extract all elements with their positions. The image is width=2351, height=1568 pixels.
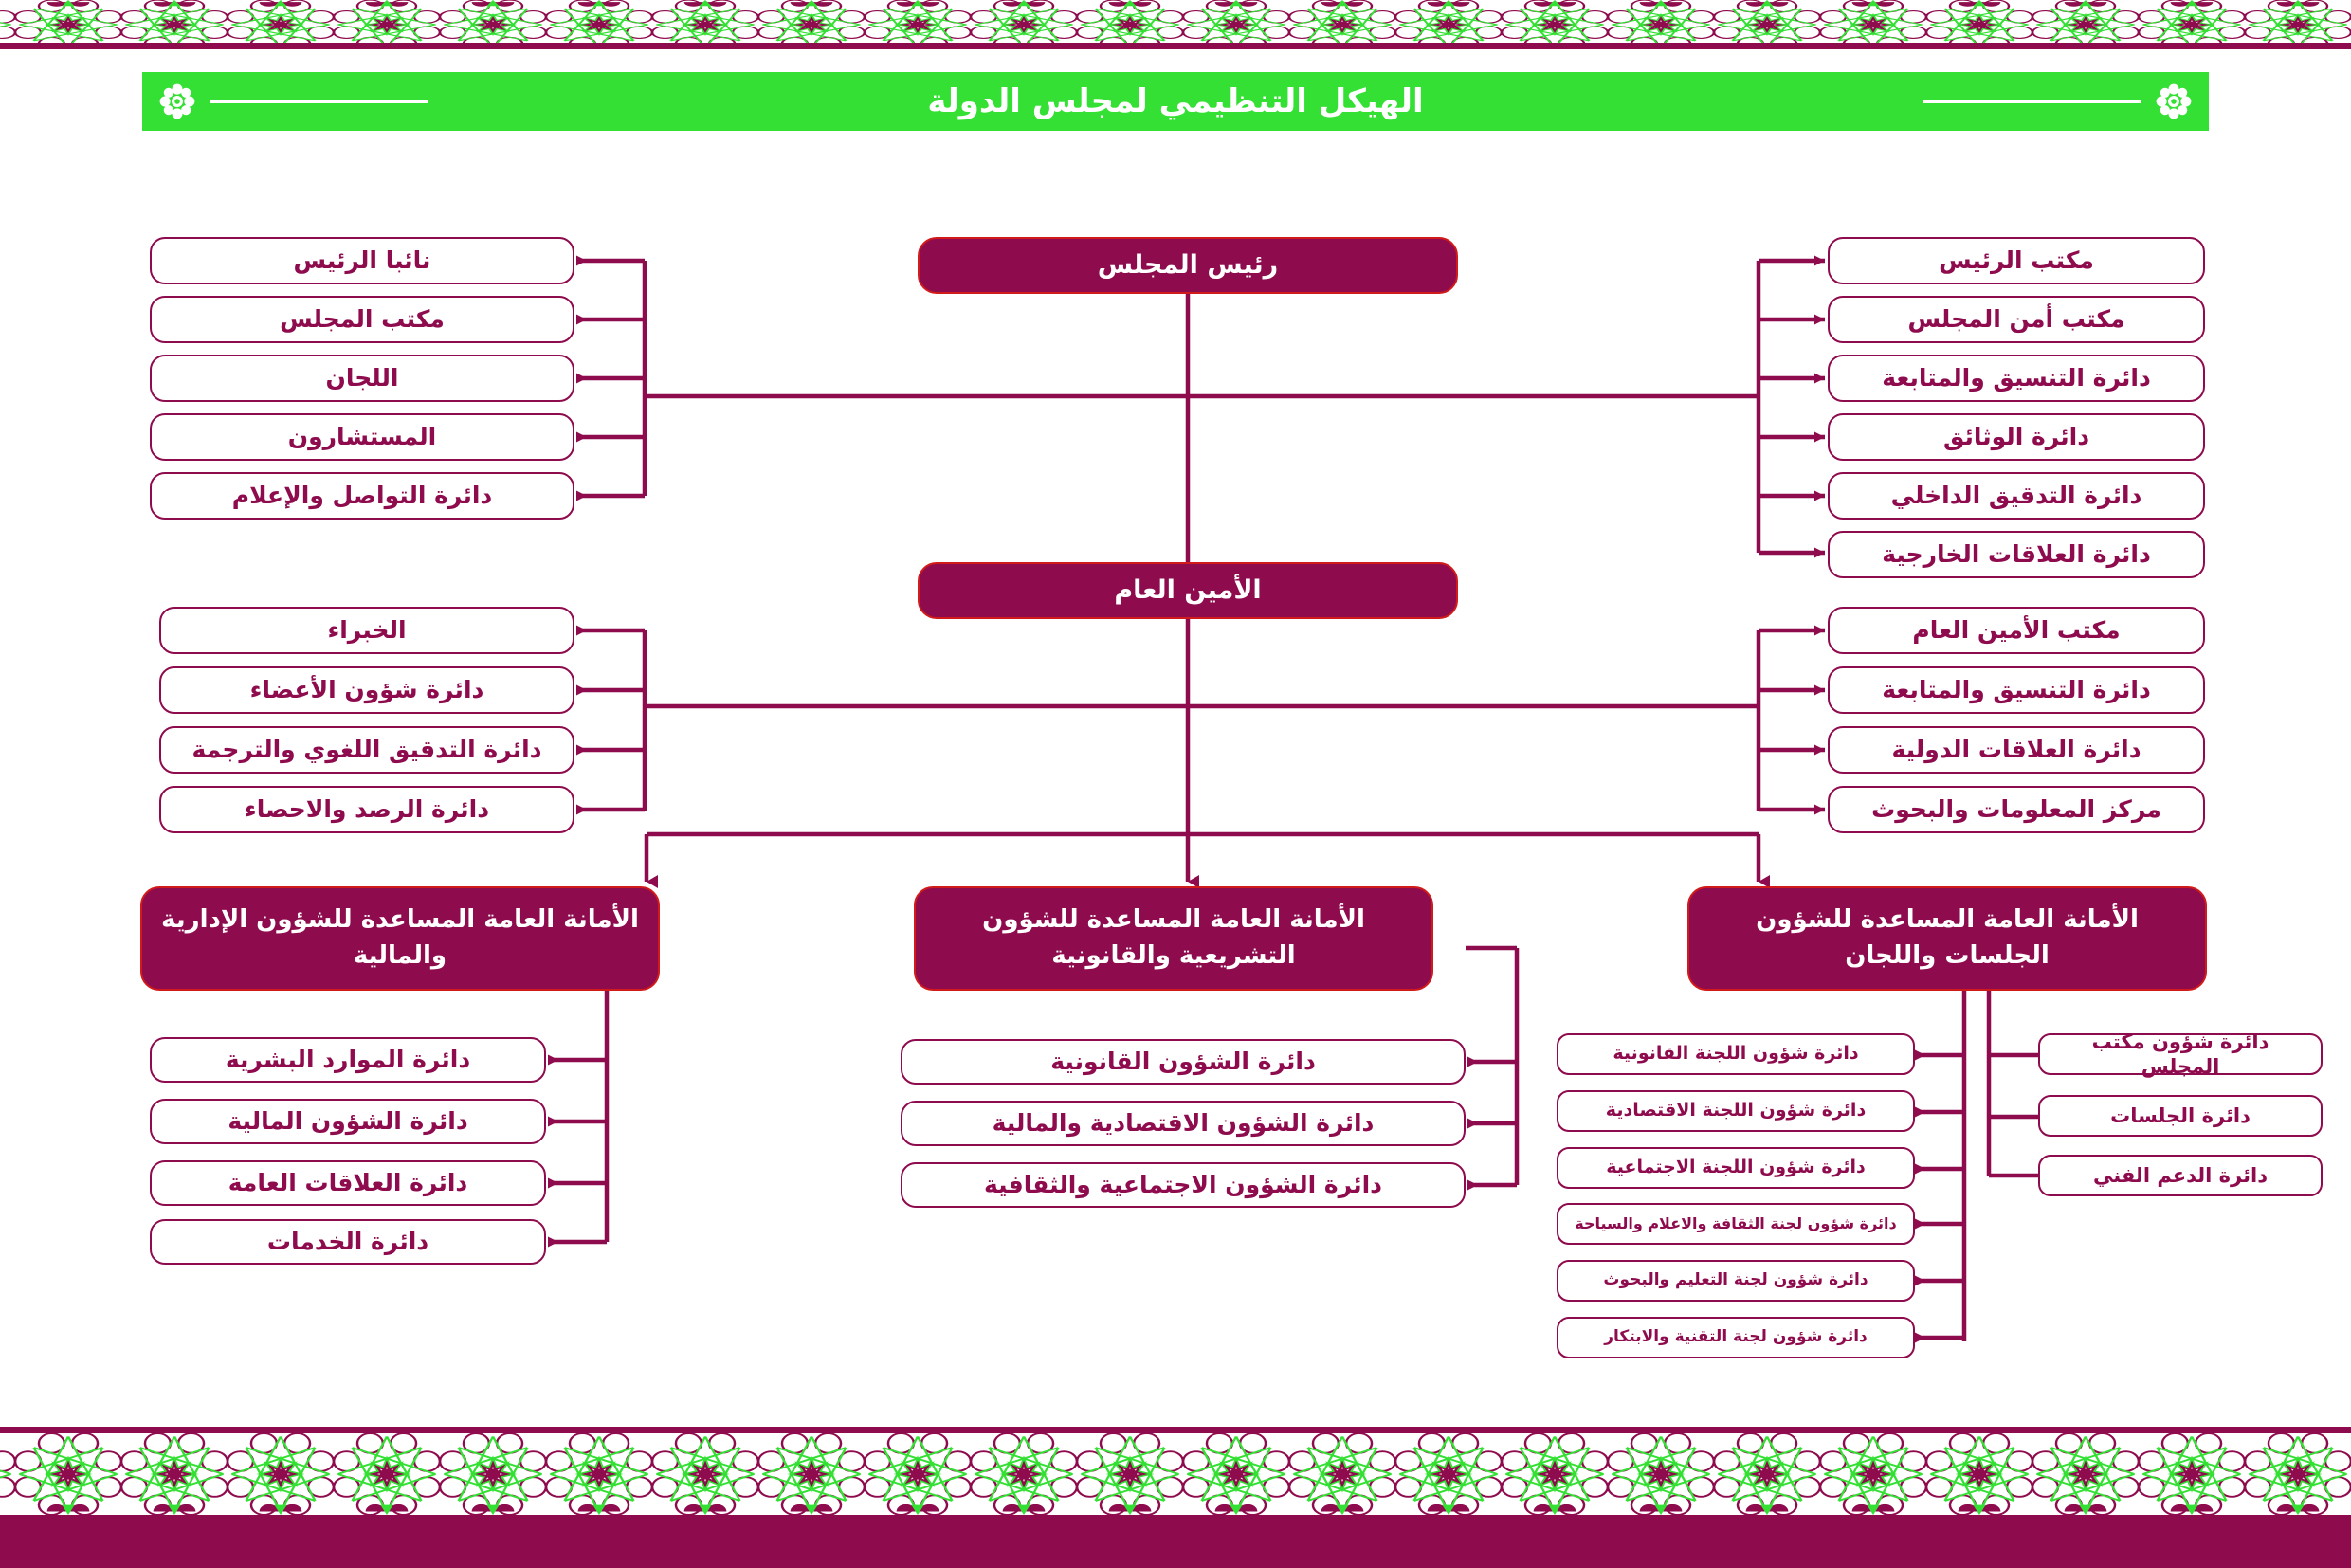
node-label: المستشارون — [288, 422, 436, 451]
node-label: دائرة الجلسات — [2110, 1103, 2251, 1128]
node-label: دائرة الوثائق — [1943, 422, 2089, 451]
org-chart-page: الهيكل التنظيمي لمجلس الدولة — [0, 0, 2351, 1568]
node-label: دائرة شؤون اللجنة القانونية — [1613, 1043, 1858, 1066]
node-label: دائرة العلاقات الخارجية — [1882, 539, 2151, 569]
list-item-committee-dept-3[interactable]: دائرة شؤون اللجنة الاجتماعية — [1557, 1147, 1915, 1189]
list-item-session-dept-3[interactable]: دائرة الدعم الفني — [2038, 1155, 2323, 1196]
list-item-president-right-3[interactable]: دائرة التنسيق والمتابعة — [1828, 355, 2205, 402]
list-item-legal-dept-3[interactable]: دائرة الشؤون الاجتماعية والثقافية — [901, 1162, 1466, 1208]
node-label: دائرة الرصد والاحصاء — [245, 794, 489, 824]
org-chart: رئيس المجلس الأمين العام نائبا الرئيس مك… — [0, 0, 2351, 1568]
node-label: دائرة العلاقات العامة — [228, 1168, 468, 1197]
list-item-president-right-6[interactable]: دائرة العلاقات الخارجية — [1828, 531, 2205, 578]
list-item-president-right-1[interactable]: مكتب الرئيس — [1828, 237, 2205, 284]
list-item-admin-dept-3[interactable]: دائرة العلاقات العامة — [150, 1160, 546, 1206]
node-label: الأمانة العامة المساعدة للشؤون الإدارية … — [155, 903, 645, 974]
node-label: مكتب الرئيس — [1939, 246, 2094, 275]
node-label: دائرة شؤون لجنة التقنية والابتكار — [1604, 1327, 1868, 1347]
list-item-committee-dept-1[interactable]: دائرة شؤون اللجنة القانونية — [1557, 1033, 1915, 1075]
node-label: مركز المعلومات والبحوث — [1871, 794, 2161, 824]
node-label: دائرة التنسيق والمتابعة — [1882, 675, 2151, 704]
node-label: دائرة الموارد البشرية — [226, 1045, 470, 1074]
list-item-sg-right-1[interactable]: مكتب الأمين العام — [1828, 607, 2205, 654]
node-label: دائرة الشؤون الاجتماعية والثقافية — [984, 1170, 1382, 1199]
node-label: دائرة التدقيق اللغوي والترجمة — [192, 735, 542, 764]
node-label: دائرة التدقيق الداخلي — [1891, 481, 2142, 510]
list-item-sg-right-4[interactable]: مركز المعلومات والبحوث — [1828, 786, 2205, 833]
node-secretary-general[interactable]: الأمين العام — [918, 562, 1458, 619]
list-item-legal-dept-2[interactable]: دائرة الشؤون الاقتصادية والمالية — [901, 1101, 1466, 1146]
node-label: رئيس المجلس — [1098, 249, 1278, 282]
node-label: مكتب المجلس — [280, 304, 445, 334]
list-item-sg-left-3[interactable]: دائرة التدقيق اللغوي والترجمة — [159, 726, 574, 774]
node-label: دائرة شؤون لجنة التعليم والبحوث — [1603, 1270, 1868, 1290]
node-label: دائرة الشؤون القانونية — [1050, 1047, 1316, 1076]
node-label: الخبراء — [327, 615, 406, 645]
list-item-committee-dept-6[interactable]: دائرة شؤون لجنة التقنية والابتكار — [1557, 1317, 1915, 1358]
node-label: دائرة الخدمات — [267, 1227, 428, 1256]
list-item-president-left-2[interactable]: مكتب المجلس — [150, 296, 574, 343]
node-label: دائرة التواصل والإعلام — [232, 481, 493, 510]
node-label: نائبا الرئيس — [294, 246, 431, 275]
list-item-admin-dept-4[interactable]: دائرة الخدمات — [150, 1219, 546, 1265]
node-label: دائرة شؤون اللجنة الاقتصادية — [1606, 1100, 1866, 1122]
list-item-admin-dept-1[interactable]: دائرة الموارد البشرية — [150, 1037, 546, 1083]
list-item-president-left-3[interactable]: اللجان — [150, 355, 574, 402]
node-label: دائرة العلاقات الدولية — [1891, 735, 2141, 764]
list-item-sg-left-4[interactable]: دائرة الرصد والاحصاء — [159, 786, 574, 833]
node-label: دائرة شؤون الأعضاء — [250, 675, 484, 704]
node-secretariat-admin-finance[interactable]: الأمانة العامة المساعدة للشؤون الإدارية … — [140, 886, 660, 991]
node-label: الأمانة العامة المساعدة للشؤون التشريعية… — [929, 903, 1418, 974]
list-item-sg-right-2[interactable]: دائرة التنسيق والمتابعة — [1828, 666, 2205, 714]
list-item-president-right-5[interactable]: دائرة التدقيق الداخلي — [1828, 472, 2205, 520]
list-item-committee-dept-4[interactable]: دائرة شؤون لجنة الثقافة والاعلام والسياح… — [1557, 1203, 1915, 1245]
list-item-legal-dept-1[interactable]: دائرة الشؤون القانونية — [901, 1039, 1466, 1085]
list-item-session-dept-2[interactable]: دائرة الجلسات — [2038, 1095, 2323, 1137]
node-label: دائرة شؤون مكتب المجلس — [2050, 1030, 2311, 1080]
node-secretariat-legislative-legal[interactable]: الأمانة العامة المساعدة للشؤون التشريعية… — [914, 886, 1433, 991]
list-item-president-left-4[interactable]: المستشارون — [150, 413, 574, 461]
list-item-sg-left-1[interactable]: الخبراء — [159, 607, 574, 654]
list-item-admin-dept-2[interactable]: دائرة الشؤون المالية — [150, 1099, 546, 1144]
list-item-president-left-1[interactable]: نائبا الرئيس — [150, 237, 574, 284]
list-item-committee-dept-2[interactable]: دائرة شؤون اللجنة الاقتصادية — [1557, 1090, 1915, 1132]
node-label: اللجان — [326, 363, 399, 392]
node-label: مكتب أمن المجلس — [1908, 304, 2125, 334]
connector-lines — [0, 0, 2351, 1568]
node-label: دائرة شؤون اللجنة الاجتماعية — [1606, 1157, 1866, 1179]
node-secretariat-sessions-committees[interactable]: الأمانة العامة المساعدة للشؤون الجلسات و… — [1687, 886, 2207, 991]
node-label: الأمين العام — [1114, 574, 1261, 607]
node-label: دائرة الشؤون الاقتصادية والمالية — [993, 1108, 1375, 1138]
list-item-session-dept-1[interactable]: دائرة شؤون مكتب المجلس — [2038, 1033, 2323, 1075]
node-label: مكتب الأمين العام — [1912, 615, 2120, 645]
list-item-president-left-5[interactable]: دائرة التواصل والإعلام — [150, 472, 574, 520]
node-label: دائرة شؤون لجنة الثقافة والاعلام والسياح… — [1575, 1214, 1896, 1233]
list-item-president-right-2[interactable]: مكتب أمن المجلس — [1828, 296, 2205, 343]
list-item-committee-dept-5[interactable]: دائرة شؤون لجنة التعليم والبحوث — [1557, 1260, 1915, 1302]
list-item-sg-right-3[interactable]: دائرة العلاقات الدولية — [1828, 726, 2205, 774]
list-item-president-right-4[interactable]: دائرة الوثائق — [1828, 413, 2205, 461]
node-label: دائرة الشؤون المالية — [228, 1106, 467, 1136]
node-label: الأمانة العامة المساعدة للشؤون الجلسات و… — [1703, 903, 2192, 974]
list-item-sg-left-2[interactable]: دائرة شؤون الأعضاء — [159, 666, 574, 714]
node-council-president[interactable]: رئيس المجلس — [918, 237, 1458, 294]
node-label: دائرة التنسيق والمتابعة — [1882, 363, 2151, 392]
node-label: دائرة الدعم الفني — [2093, 1163, 2268, 1188]
